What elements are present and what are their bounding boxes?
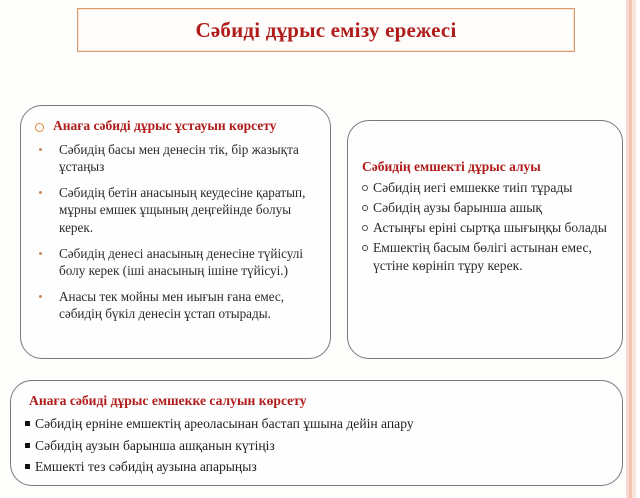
list-item-label: Сәбидің иегі емшекке тиіп тұрады (373, 180, 572, 195)
list-item-label: Сәбидің денесі анасының денесіне түйісул… (59, 246, 303, 278)
list-item: Сәбидің иегі емшекке тиіп тұрады (362, 179, 612, 197)
list-item-label: Сәбидің бетін анасының кеудесіне қаратып… (59, 185, 305, 234)
list-item: Анасы тек мойны мен иығын ғана емес, сәб… (31, 288, 316, 322)
bottom-box-header: Анаға сәбиді дұрыс емшекке салуын көрсет… (29, 393, 608, 410)
right-content-box: Сәбидің емшекті дұрыс алуы Сәбидің иегі … (347, 120, 623, 359)
list-item-label: Сәбидің аузы барынша ашық (373, 200, 542, 215)
list-item-label: Сәбидің ерніне емшектің ареоласынан баст… (35, 416, 414, 431)
square-bullet-icon (25, 421, 30, 426)
list-item: Сәбидің ерніне емшектің ареоласынан баст… (25, 415, 608, 433)
hollow-circle-bullet-icon (362, 185, 368, 191)
list-item-label: Анасы тек мойны мен иығын ғана емес, сәб… (59, 289, 284, 321)
list-item-label: Сәбидің аузын барынша ашқанын күтіңіз (35, 438, 275, 453)
dot-bullet-icon (39, 191, 42, 194)
list-item: Емшекті тез сәбидің аузына апарыңыз (25, 458, 608, 476)
hollow-circle-bullet-icon (362, 225, 368, 231)
left-box-header-label: Анаға сәбиді дұрыс ұстауын көрсету (53, 118, 276, 135)
dot-bullet-icon (39, 295, 42, 298)
list-item-label: Емшектің басым бөлігі астынан емес, үсті… (373, 240, 592, 273)
hollow-circle-bullet-icon (362, 245, 368, 251)
list-item: Сәбидің басы мен денесін тік, бір жазықт… (31, 141, 316, 175)
square-bullet-icon (25, 464, 30, 469)
left-content-box: Анаға сәбиді дұрыс ұстауын көрсету Сәбид… (20, 105, 331, 359)
square-bullet-icon (25, 443, 30, 448)
list-item-label: Сәбидің басы мен денесін тік, бір жазықт… (59, 142, 299, 174)
page-title: Сәбиді дұрыс емізу ережесі (196, 18, 457, 43)
slide-title-box: Сәбиді дұрыс емізу ережесі (77, 8, 575, 52)
list-item: Сәбидің бетін анасының кеудесіне қаратып… (31, 184, 316, 235)
list-item: Емшектің басым бөлігі астынан емес, үсті… (362, 239, 612, 275)
left-box-list: Сәбидің басы мен денесін тік, бір жазықт… (31, 141, 316, 322)
slide-canvas: Сәбиді дұрыс емізу ережесі Анаға сәбиді … (0, 0, 640, 498)
dot-bullet-icon (39, 148, 42, 151)
right-edge-artifact-strip (626, 0, 629, 498)
right-box-header: Сәбидің емшекті дұрыс алуы (362, 159, 612, 176)
bottom-content-box: Анаға сәбиді дұрыс емшекке салуын көрсет… (10, 380, 623, 486)
list-item-label: Астыңғы еріні сыртқа шығыңқы болады (373, 220, 607, 235)
hollow-circle-bullet-icon (35, 123, 44, 132)
list-item: Сәбидің аузын барынша ашқанын күтіңіз (25, 437, 608, 455)
bottom-box-list: Сәбидің ерніне емшектің ареоласынан баст… (25, 415, 608, 476)
list-item: Сәбидің аузы барынша ашық (362, 199, 612, 217)
list-item: Сәбидің денесі анасының денесіне түйісул… (31, 245, 316, 279)
list-item: Астыңғы еріні сыртқа шығыңқы болады (362, 219, 612, 237)
left-box-header: Анаға сәбиді дұрыс ұстауын көрсету (31, 118, 316, 135)
right-box-list: Сәбидің иегі емшекке тиіп тұрады Сәбидің… (362, 179, 612, 275)
right-edge-artifact-strip (632, 0, 636, 498)
dot-bullet-icon (39, 252, 42, 255)
right-edge-artifact-strip (629, 0, 632, 498)
hollow-circle-bullet-icon (362, 205, 368, 211)
right-edge-artifact-strip (636, 0, 640, 498)
list-item-label: Емшекті тез сәбидің аузына апарыңыз (35, 459, 257, 474)
